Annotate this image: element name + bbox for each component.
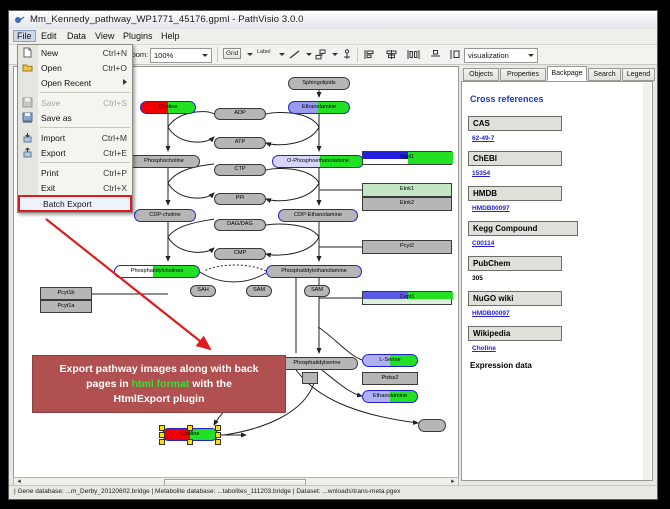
chevron-down-icon-line[interactable] <box>306 53 312 56</box>
menu-item-export[interactable]: Export Ctrl+E <box>18 145 132 160</box>
xref-source-kegg: Kegg Compound <box>468 221 578 236</box>
chevron-down-icon <box>202 54 208 57</box>
gene-pcyt2[interactable]: Pcyt2 <box>362 240 452 254</box>
node-atp[interactable]: ATP <box>214 137 266 149</box>
node-ethanolamine-top[interactable]: Ethanolamine <box>288 101 350 114</box>
pathvisio-window: Mm_Kennedy_pathway_WP1771_45176.gpml - P… <box>8 10 658 500</box>
callout-line3: HtmlExport plugin <box>114 393 205 405</box>
xref-source-chebi: ChEBI <box>468 151 562 166</box>
menu-data[interactable]: Data <box>63 30 90 42</box>
xref-value-hmdb[interactable]: HMDB00097 <box>472 205 646 212</box>
callout-line1: Export pathway images along with back <box>60 363 259 375</box>
node-sam-1[interactable]: SAM <box>246 285 272 297</box>
tab-search[interactable]: Search <box>588 68 621 81</box>
selection-handle-nw[interactable] <box>159 425 165 431</box>
save-as-icon <box>22 112 33 123</box>
anchor-icon[interactable] <box>341 49 353 61</box>
file-menu-dropdown[interactable]: New Ctrl+N Open Ctrl+O Open Recent Save … <box>17 44 133 213</box>
expression-data-heading: Expression data <box>470 361 646 370</box>
label-button[interactable]: Label <box>257 48 270 61</box>
open-folder-icon <box>22 62 33 73</box>
callout-line2-a: pages in <box>86 378 132 390</box>
node-acetylcholine-stub[interactable] <box>418 419 446 432</box>
xref-source-hmdb: HMDB <box>468 186 562 201</box>
node-choline[interactable]: Choline <box>140 101 196 114</box>
xref-value-pubchem: 305 <box>472 275 646 282</box>
node-adp[interactable]: ADP <box>214 108 266 120</box>
xref-source-wikipedia: Wikipedia <box>468 326 562 341</box>
file-menu-separator-1 <box>40 92 130 93</box>
zoom-value: 100% <box>154 51 173 60</box>
shape-tool-icon[interactable] <box>315 49 327 60</box>
submenu-arrow-icon <box>123 79 127 85</box>
xref-source-nugo: NuGO wiki <box>468 291 562 306</box>
xref-value-nugo[interactable]: HMDB00097 <box>472 310 646 317</box>
node-cdp-ethanolamine[interactable]: CDP-Ethanolamine <box>278 209 358 222</box>
file-menu-separator-2 <box>40 127 130 128</box>
file-menu-separator-3 <box>40 162 130 163</box>
node-phosphatidylethanolamine[interactable]: Phosphatidylethanolamine <box>266 265 362 278</box>
distribute-icon[interactable] <box>407 49 420 60</box>
toolbar-separator-2 <box>217 47 218 62</box>
export-icon <box>22 147 33 158</box>
callout-pointer-arrow <box>42 217 222 362</box>
side-panel-tabs: Objects Properties Backpage Search Legen… <box>461 66 653 81</box>
status-bar-text: | Gene database: ...m_Derby_20120602.bri… <box>14 488 400 495</box>
node-ethanolamine-bottom[interactable]: Ethanolamine <box>362 390 418 403</box>
selection-handle-s[interactable] <box>187 439 193 445</box>
tab-properties[interactable]: Properties <box>500 68 546 81</box>
chevron-down-icon-shape[interactable] <box>332 53 338 56</box>
menu-item-new[interactable]: New Ctrl+N <box>18 45 132 60</box>
align-center-icon[interactable] <box>385 49 398 60</box>
callout-box: Export pathway images along with back pa… <box>32 355 286 413</box>
align-left-icon[interactable] <box>363 49 376 60</box>
xref-source-pubchem: PubChem <box>468 256 562 271</box>
selection-handle-se[interactable] <box>215 439 221 445</box>
import-icon <box>22 132 33 143</box>
side-panel: Objects Properties Backpage Search Legen… <box>461 66 653 488</box>
node-phosphocholine[interactable]: Phosphocholine <box>128 155 200 168</box>
menu-item-save-as[interactable]: Save as <box>18 110 132 125</box>
node-ppi[interactable]: PPi <box>214 193 266 205</box>
selection-handle-e[interactable] <box>215 432 221 438</box>
menu-item-batch-export[interactable]: Batch Export <box>18 195 132 212</box>
selection-handle-sw[interactable] <box>159 439 165 445</box>
gene-etnk2[interactable]: Etnk2 <box>362 197 452 211</box>
gene-etnk1[interactable]: Etnk1 <box>362 183 452 197</box>
callout-line2-highlight: html format <box>132 378 190 390</box>
grid-button-label: Grid <box>223 48 241 59</box>
visualization-value: visualization <box>468 51 509 60</box>
order-icon[interactable] <box>449 49 462 60</box>
menu-bar: File Edit Data View Plugins Help <box>9 29 657 45</box>
xref-value-chebi[interactable]: 15354 <box>472 170 646 177</box>
selection-handle-ne[interactable] <box>215 425 221 431</box>
cross-references-heading: Cross references <box>470 94 646 104</box>
backpage-panel: Cross references CAS 62-49-7 ChEBI 15354… <box>461 81 653 481</box>
viz-bar-green-2 <box>408 292 453 299</box>
gene-cept1[interactable]: Cept1 <box>362 291 452 305</box>
line-tool-icon[interactable] <box>289 49 301 60</box>
tab-backpage[interactable]: Backpage <box>547 66 587 81</box>
zoom-combo[interactable]: 100% <box>150 48 212 63</box>
grid-button[interactable]: Grid <box>223 48 241 61</box>
menu-item-open-recent[interactable]: Open Recent <box>18 75 132 90</box>
save-disk-icon <box>22 97 33 108</box>
window-title: Mm_Kennedy_pathway_WP1771_45176.gpml - P… <box>30 14 304 25</box>
node-ctp[interactable]: CTP <box>214 164 266 176</box>
gene-unlabeled-block[interactable] <box>302 372 318 384</box>
node-sam-2[interactable]: SAM <box>304 285 330 297</box>
node-o-phosphoethanolamine[interactable]: O-Phosphoethanolamine <box>272 155 364 168</box>
visualization-combo[interactable]: visualization <box>464 48 538 63</box>
title-bar: Mm_Kennedy_pathway_WP1771_45176.gpml - P… <box>9 11 657 30</box>
label-button-label: Label <box>257 49 270 55</box>
chevron-down-icon-viz <box>528 54 534 57</box>
screenshot-frame: Mm_Kennedy_pathway_WP1771_45176.gpml - P… <box>0 0 670 509</box>
chevron-down-icon-label[interactable] <box>279 53 285 56</box>
menu-item-import[interactable]: Import Ctrl+M <box>18 130 132 145</box>
status-bar: | Gene database: ...m_Derby_20120602.bri… <box>9 485 657 499</box>
viz-bar-green <box>408 152 453 164</box>
backpage-content: Cross references CAS 62-49-7 ChEBI 15354… <box>468 86 646 370</box>
tab-legend[interactable]: Legend <box>622 68 655 81</box>
menu-plugins[interactable]: Plugins <box>119 30 157 42</box>
menu-item-exit[interactable]: Exit Ctrl+X <box>18 180 132 195</box>
menu-item-save: Save Ctrl+S <box>18 95 132 110</box>
pathvisio-icon <box>14 15 25 26</box>
menu-item-print[interactable]: Print Ctrl+P <box>18 165 132 180</box>
selection-handle-w[interactable] <box>159 432 165 438</box>
toolbar-separator-3 <box>357 47 358 62</box>
callout-line2-b: with the <box>189 378 232 390</box>
xref-value-cas[interactable]: 62-49-7 <box>472 135 646 142</box>
new-file-icon <box>22 47 33 58</box>
xref-source-cas: CAS <box>468 116 562 131</box>
chevron-down-icon-grid[interactable] <box>247 53 253 56</box>
xref-value-wikipedia[interactable]: Choline <box>472 345 646 352</box>
menu-help[interactable]: Help <box>157 30 184 42</box>
node-l-serine[interactable]: L-Serine <box>362 354 418 367</box>
xref-value-kegg[interactable]: C00114 <box>472 240 646 247</box>
menu-item-open[interactable]: Open Ctrl+O <box>18 60 132 75</box>
tab-objects[interactable]: Objects <box>463 68 499 81</box>
selection-handle-n[interactable] <box>187 425 193 431</box>
gene-ptdss2[interactable]: Ptdss2 <box>362 372 418 385</box>
menu-view[interactable]: View <box>91 30 118 42</box>
menu-edit[interactable]: Edit <box>37 30 61 42</box>
menu-file[interactable]: File <box>13 30 36 42</box>
node-phosphatidylserine[interactable]: Phosphatidylserine <box>276 357 358 370</box>
group-icon[interactable] <box>429 49 442 60</box>
gene-sgpl1[interactable]: Sgpl1 <box>362 151 452 165</box>
node-sphingolipids[interactable]: Sphingolipids <box>288 77 350 90</box>
